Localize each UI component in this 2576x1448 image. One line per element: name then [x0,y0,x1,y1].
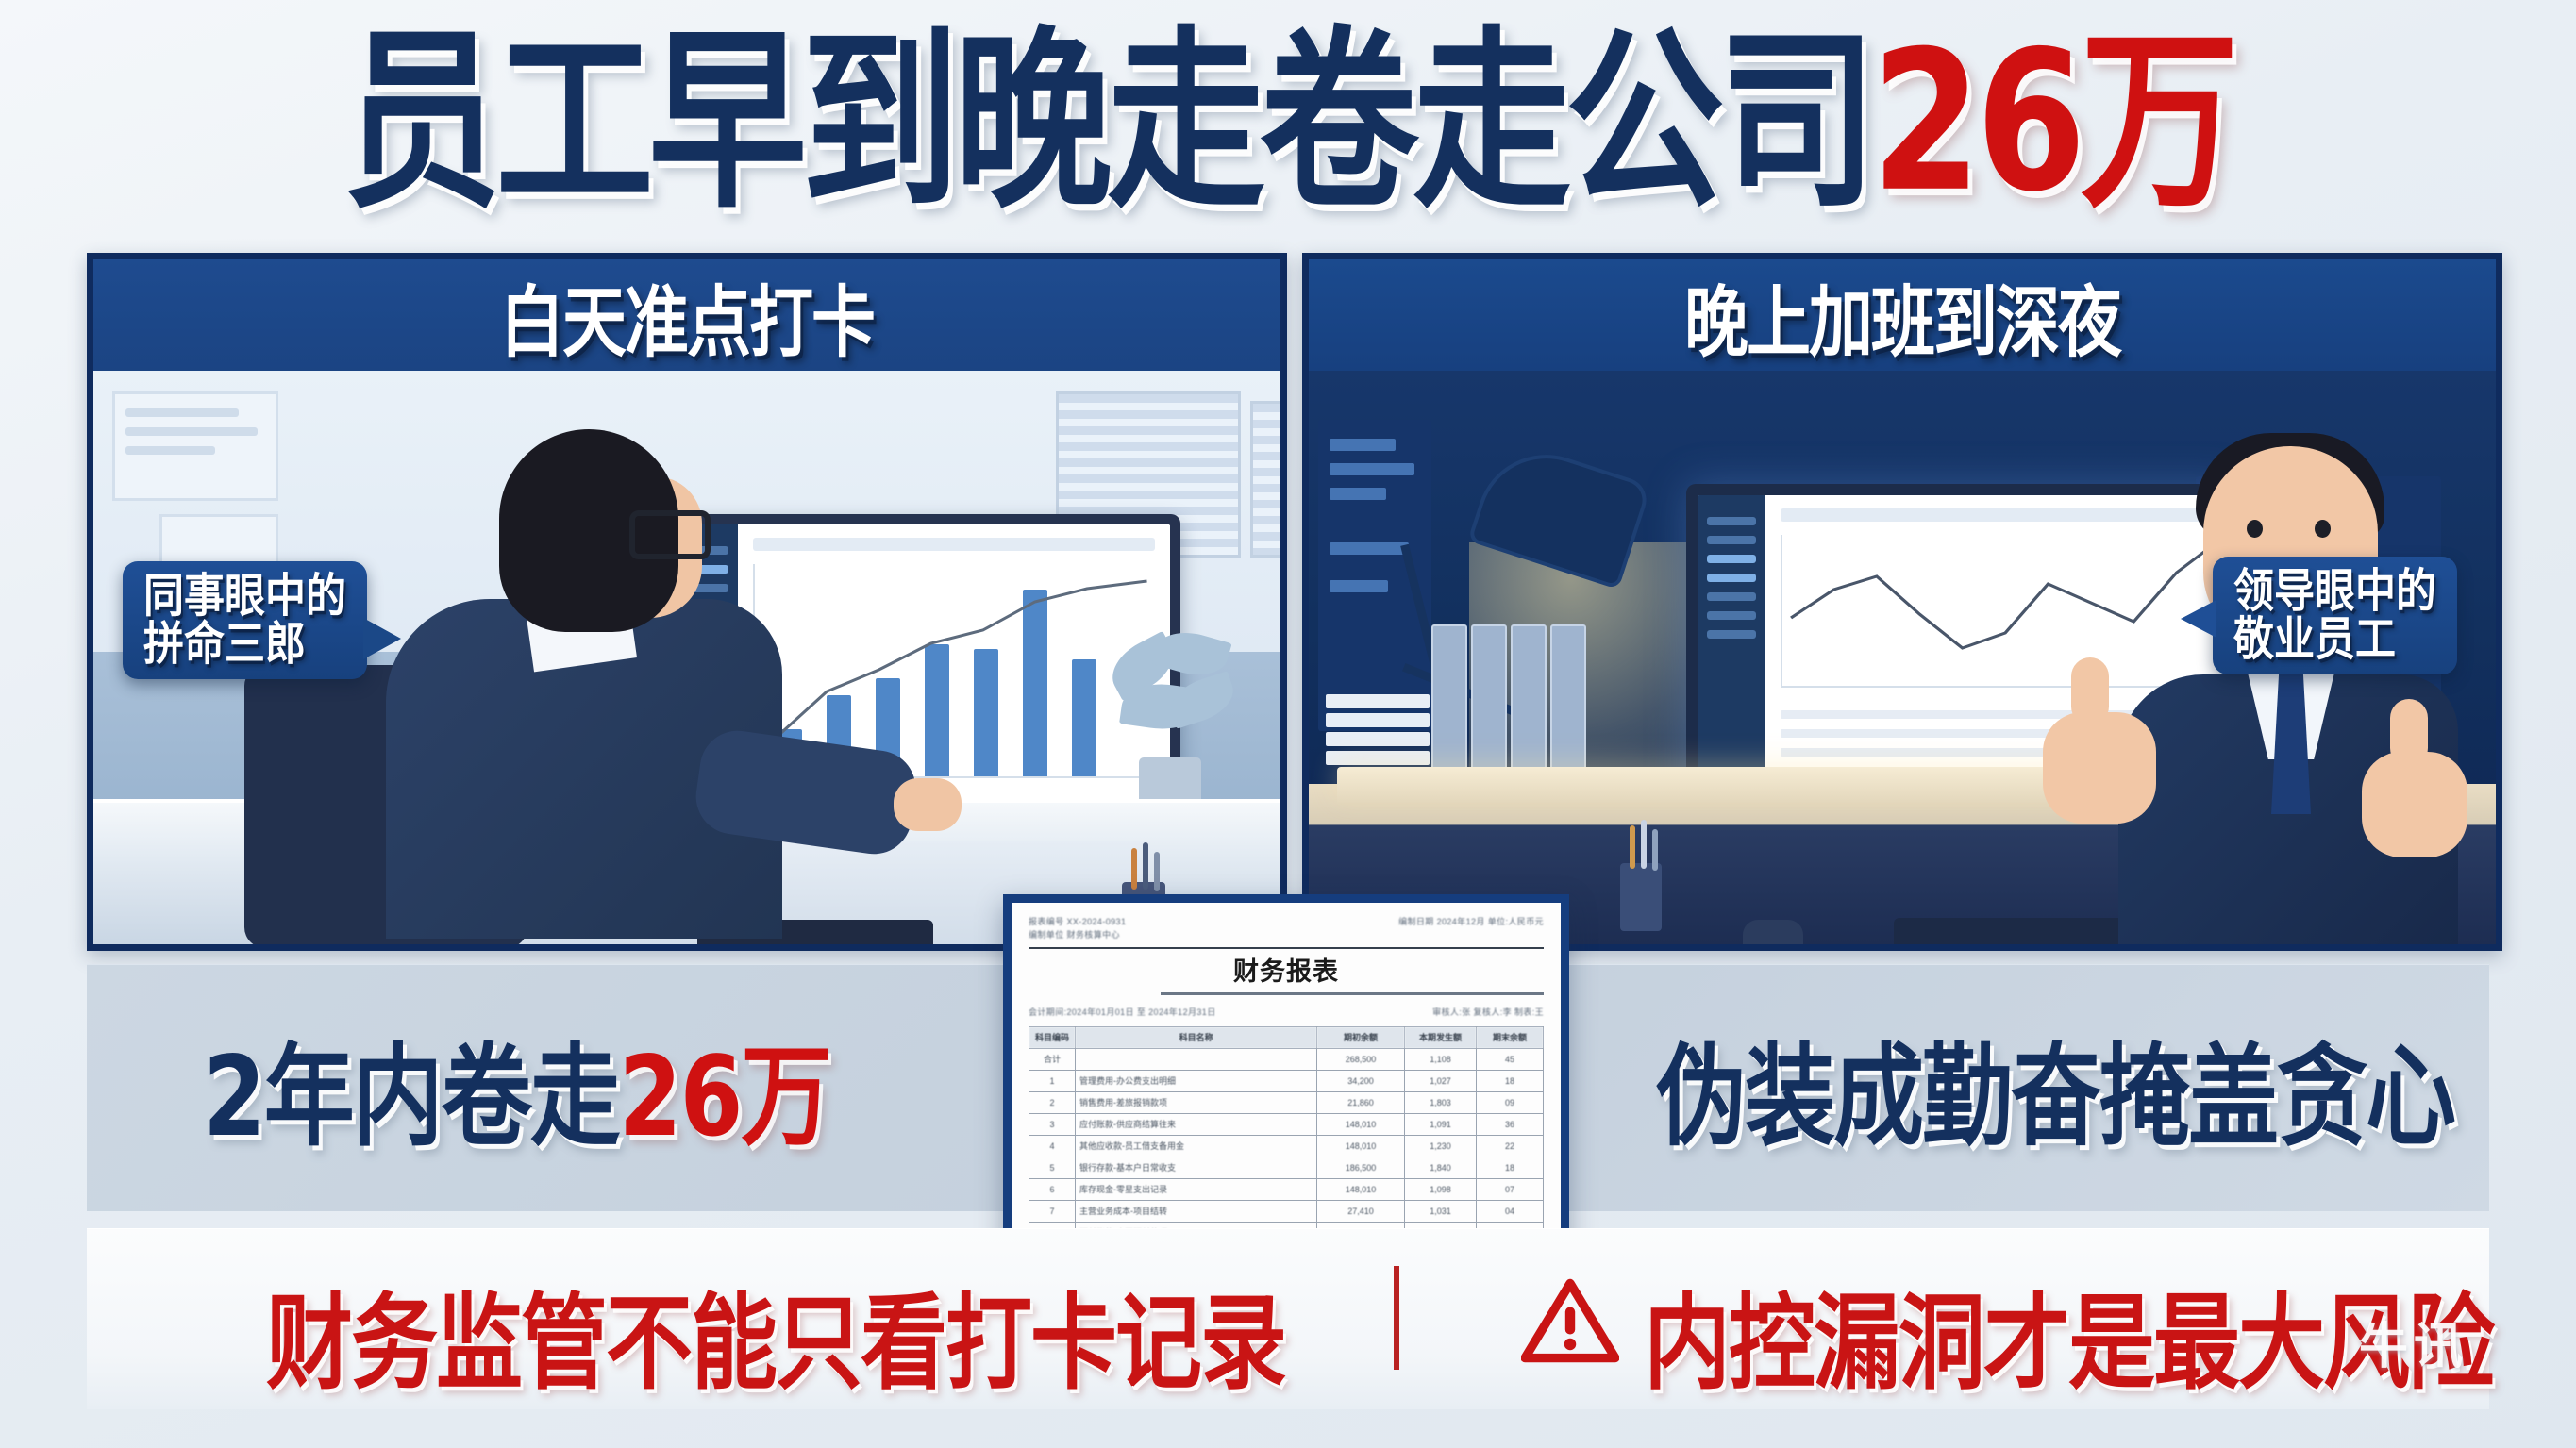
bottom-bar: 财务监管不能只看打卡记录 内控漏洞才是最大风险 牛讯 [87,1228,2489,1409]
table-cell: 1,803 [1404,1091,1476,1113]
table-cell: 1,027 [1404,1070,1476,1091]
speech-bubble-right: 领导眼中的 敬业员工 [2213,557,2457,674]
mouse [1743,920,1803,951]
table-cell: 268,500 [1317,1048,1405,1070]
table-cell: 7 [1029,1200,1076,1222]
table-cell: 6 [1029,1178,1076,1200]
table-cell: 4 [1029,1135,1076,1157]
city-window [1330,488,1386,500]
table-cell: 34,200 [1317,1070,1405,1091]
col-code: 科目编码 [1029,1026,1076,1048]
col-opening: 期初余额 [1317,1026,1405,1048]
table-cell: 1,230 [1404,1135,1476,1157]
table-cell: 销售费用-差旅报销款项 [1076,1091,1317,1113]
table-cell: 36 [1477,1113,1544,1135]
bottom-left-text: 财务监管不能只看打卡记录 [266,1259,1285,1410]
col-name: 科目名称 [1076,1026,1317,1048]
wall-line [125,408,239,417]
middle-band-left-text: 2年内卷走26万 [203,983,829,1190]
table-cell: 148,010 [1317,1178,1405,1200]
table-row: 2销售费用-差旅报销款项21,8601,80309 [1029,1091,1544,1113]
table-cell [1076,1048,1317,1070]
hand [894,778,962,831]
table-row: 4其他应收款-员工借支备用金148,0101,23022 [1029,1135,1544,1157]
financial-report-page: 报表编号 XX-2024-0931 编制单位 财务核算中心 编制日期 2024年… [1012,903,1561,1257]
pen [1143,842,1148,890]
bubble-right-line2: 敬业员工 [2233,612,2436,667]
report-signers: 审核人:张 复核人:李 制表:王 [1432,1007,1544,1020]
table-cell: 管理费用-办公费支出明细 [1076,1070,1317,1091]
title-amount: 26万 [1871,8,2233,234]
table-cell: 45 [1477,1048,1544,1070]
table-cell: 1 [1029,1070,1076,1091]
table-cell: 22 [1477,1135,1544,1157]
table-cell: 18 [1477,1157,1544,1178]
binder [1550,624,1586,784]
table-header-row: 科目编码 科目名称 期初余额 本期发生额 期末余额 [1029,1026,1544,1048]
pen [1131,848,1137,890]
speech-bubble-left: 同事眼中的 拼命三郎 [123,561,367,679]
col-closing: 期末余额 [1477,1026,1544,1048]
table-cell: 1,108 [1404,1048,1476,1070]
binder [1431,624,1467,784]
table-cell: 合计 [1029,1048,1076,1070]
middle-band-right-text: 伪装成勤奋掩盖贪心 [1656,983,2454,1190]
table-cell: 04 [1477,1200,1544,1222]
glasses-icon [629,510,711,559]
report-meta-right: 编制日期 2024年12月 单位:人民币元 [1398,916,1544,941]
dashboard-toolbar [753,538,1155,551]
bottom-divider [1394,1266,1399,1370]
middle-left-prefix: 2年内卷走 [203,1007,619,1167]
bubble-right-line1: 领导眼中的 [2233,564,2436,619]
panel-daytime-header: 白天准点打卡 [93,259,1280,371]
poster-root: 员工早到晚走卷走公司26万 [0,0,2576,1448]
report-title: 财务报表 [1029,951,1544,988]
table-cell: 18 [1477,1070,1544,1091]
financial-report-card: 报表编号 XX-2024-0931 编制单位 财务核算中心 编制日期 2024年… [1003,894,1569,1265]
panel-daytime-header-text: 白天准点打卡 [500,259,874,372]
wall-line [125,446,215,455]
city-window [1330,463,1414,475]
city-window [1330,580,1388,592]
table-cell: 主营业务成本-项目结转 [1076,1200,1317,1222]
table-cell: 148,010 [1317,1113,1405,1135]
page-title: 员工早到晚走卷走公司26万 [0,13,2576,230]
table-row: 7主营业务成本-项目结转27,4101,03104 [1029,1200,1544,1222]
table-cell: 1,031 [1404,1200,1476,1222]
thumbs-up-hand-left [2043,712,2156,824]
table-cell: 27,410 [1317,1200,1405,1222]
pen [1630,825,1635,869]
report-header: 报表编号 XX-2024-0931 编制单位 财务核算中心 编制日期 2024年… [1029,916,1544,949]
table-row: 6库存现金-零星支出记录148,0101,09807 [1029,1178,1544,1200]
report-meta-line1: 报表编号 XX-2024-0931 [1029,916,1126,929]
city-window [1330,439,1396,451]
report-rule [1161,992,1544,995]
panel-night-header: 晚上加班到深夜 [1309,259,2496,371]
eye [2247,520,2263,538]
pen-holder [1620,863,1662,931]
table-cell: 5 [1029,1157,1076,1178]
plant-leaf [1164,671,1240,729]
table-cell: 3 [1029,1113,1076,1135]
panel-night-header-text: 晚上加班到深夜 [1684,259,2120,372]
table-row: 3应付账款-供应商结算往来148,0101,09136 [1029,1113,1544,1135]
pen [1154,852,1160,891]
table-row: 5银行存款-基本户日常收支186,5001,84018 [1029,1157,1544,1178]
eye [2315,520,2331,538]
pen [1641,820,1647,869]
report-meta-left: 报表编号 XX-2024-0931 编制单位 财务核算中心 [1029,916,1126,941]
report-period: 会计期间:2024年01月01日 至 2024年12月31日 [1029,1007,1216,1020]
table-cell: 2 [1029,1091,1076,1113]
binder [1471,624,1507,784]
title-text: 员工早到晚走卷走公司26万 [343,25,2233,219]
warning-triangle-icon [1521,1277,1619,1364]
table-cell: 银行存款-基本户日常收支 [1076,1157,1317,1178]
report-subheader: 会计期间:2024年01月01日 至 2024年12月31日 审核人:张 复核人… [1029,1007,1544,1020]
pen [1652,829,1658,871]
thumbs-up-hand-right [2362,752,2467,857]
wall-line [125,427,258,436]
middle-left-amount: 26万 [619,1007,830,1167]
table-cell: 07 [1477,1178,1544,1200]
table-cell: 148,010 [1317,1135,1405,1157]
office-plant [1090,625,1250,824]
table-cell: 库存现金-零星支出记录 [1076,1178,1317,1200]
table-cell: 186,500 [1317,1157,1405,1178]
col-period: 本期发生额 [1404,1026,1476,1048]
thumb-left [2071,657,2109,725]
table-cell: 应付账款-供应商结算往来 [1076,1113,1317,1135]
table-cell: 1,098 [1404,1178,1476,1200]
report-meta-line2: 编制单位 财务核算中心 [1029,929,1126,942]
binder [1511,624,1547,784]
table-row: 1管理费用-办公费支出明细34,2001,02718 [1029,1070,1544,1091]
binder-stack [1431,624,1620,784]
table-row: 合计268,5001,10845 [1029,1048,1544,1070]
thumb-right [2390,699,2428,767]
table-cell: 1,840 [1404,1157,1476,1178]
table-cell: 21,860 [1317,1091,1405,1113]
title-main: 员工早到晚走卷走公司 [343,8,1871,234]
table-cell: 1,091 [1404,1113,1476,1135]
bubble-left-line2: 拼命三郎 [143,617,346,672]
table-cell: 其他应收款-员工借支备用金 [1076,1135,1317,1157]
employee-daytime [376,401,792,929]
bubble-left-line1: 同事眼中的 [143,569,346,624]
window-blinds [1250,401,1284,558]
bottom-right-text: 内控漏洞才是最大风险 [1644,1259,2493,1410]
city-window [1330,542,1409,555]
table-cell: 09 [1477,1091,1544,1113]
